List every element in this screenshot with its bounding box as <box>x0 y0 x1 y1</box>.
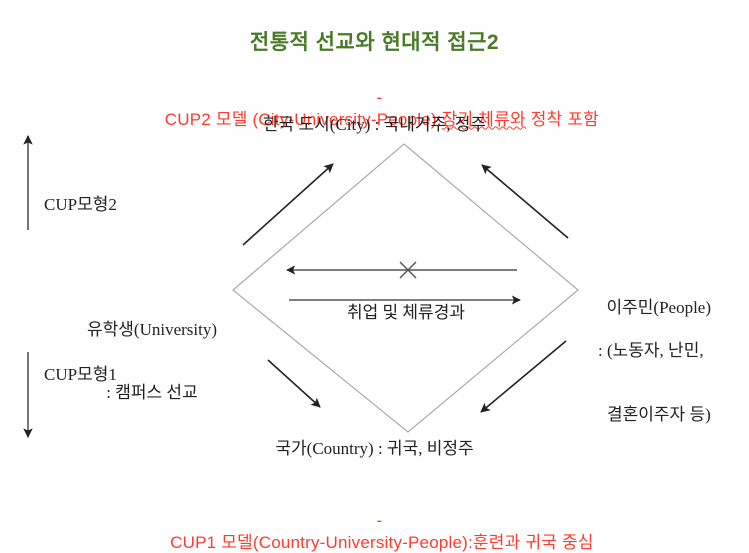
node-label-university: 유학생(University) : 캠퍼스 선교 <box>62 276 242 425</box>
node-label-university-line1: 유학생(University) <box>62 319 242 340</box>
diamond-outline <box>233 144 578 432</box>
caption-cup1: - CUP1 모델(Country-University-People):훈련과… <box>0 489 749 553</box>
arrow-people-to-city <box>482 165 568 238</box>
side-label-cup1: CUP모형1 <box>44 364 117 385</box>
side-label-cup2: CUP모형2 <box>44 194 117 215</box>
node-label-university-line2: : 캠퍼스 선교 <box>62 382 242 403</box>
node-label-people-line3: 결혼이주자 등) <box>598 404 748 425</box>
caption-cup2-dash: - <box>376 88 382 107</box>
center-flow-label: 취업 및 체류경과 <box>286 302 526 323</box>
node-label-people: 이주민(People) : (노동자, 난민, 결혼이주자 등) <box>598 276 748 446</box>
node-label-people-line1: 이주민(People) <box>607 298 712 317</box>
node-label-people-line2: : (노동자, 난민, <box>598 340 748 361</box>
caption-cup1-dash: - <box>376 511 382 530</box>
caption-cup1-text: CUP1 모델(Country-University-People):훈련과 귀… <box>170 533 594 552</box>
arrow-university-to-city <box>243 164 333 245</box>
arrow-people-to-country <box>481 341 566 412</box>
node-label-city: 한국 도시(City) : 국내거주, 정주 <box>0 114 749 135</box>
arrow-university-to-country <box>268 360 320 407</box>
page-title: 전통적 선교와 현대적 접근2 <box>0 30 749 56</box>
